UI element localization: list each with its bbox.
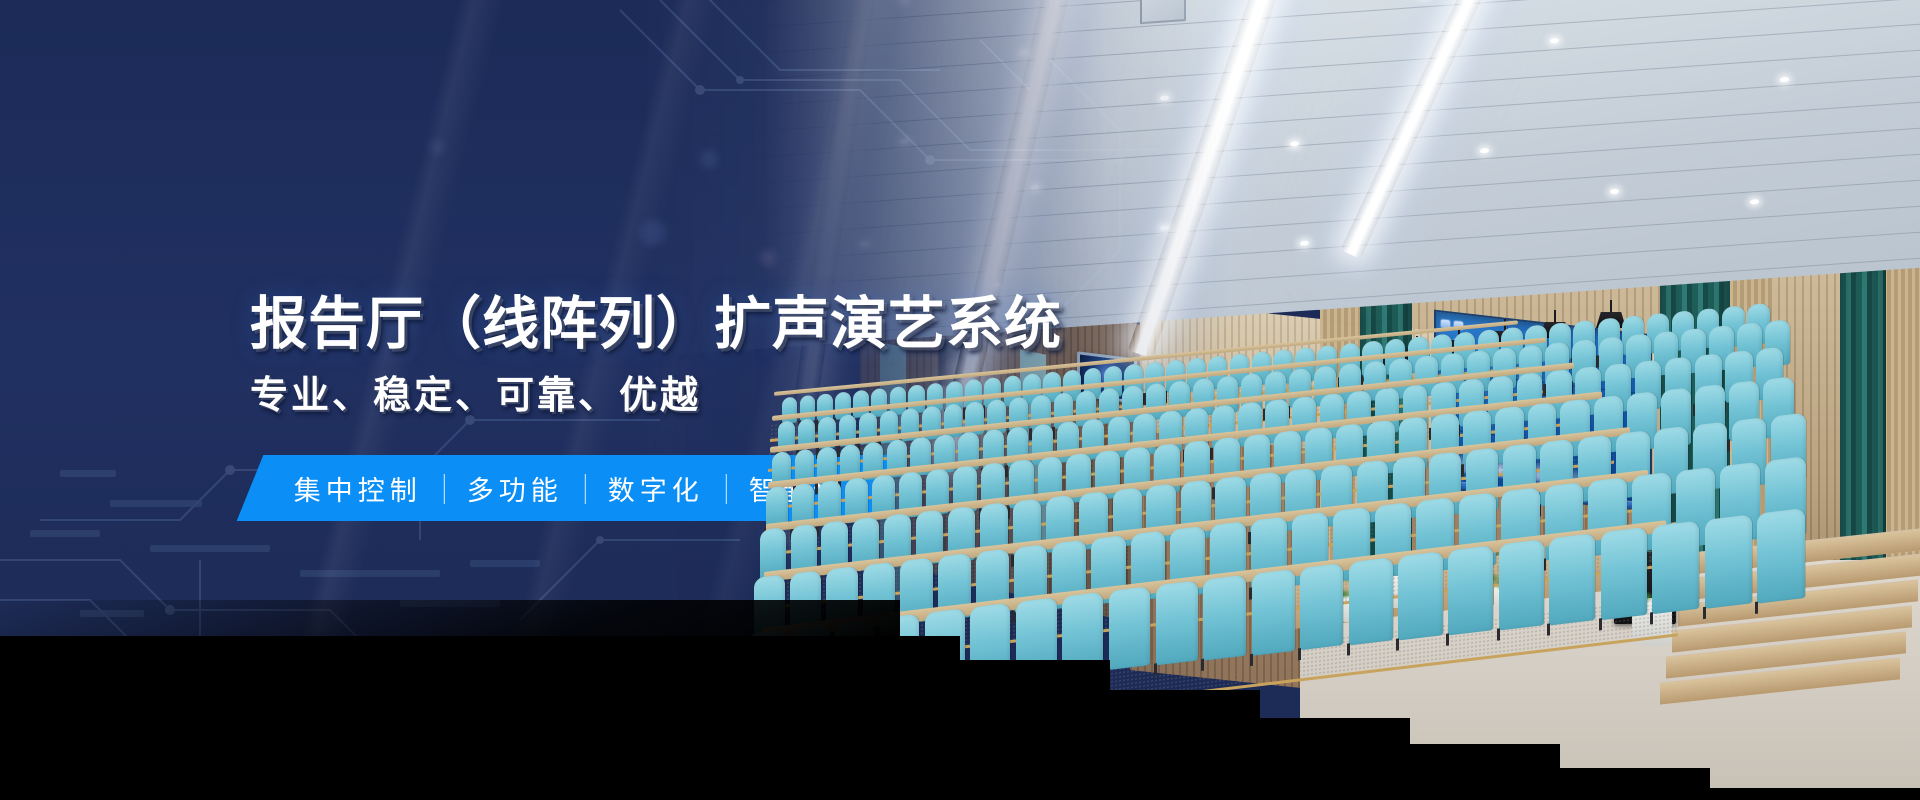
auditorium-seat: [1156, 580, 1198, 665]
auditorium-seat: [1757, 508, 1805, 604]
auditorium-seat: [1499, 539, 1544, 630]
auditorium-seat: [1252, 569, 1295, 656]
image-crop-mask: [1110, 690, 1260, 800]
image-crop-mask: [1410, 744, 1560, 800]
tag-separator: [585, 473, 586, 503]
banner-subtitle: 专业、稳定、可靠、优越: [250, 364, 701, 419]
auditorium-seat: [1601, 527, 1647, 620]
feature-tag: 集中控制: [294, 469, 422, 508]
image-crop-mask: [960, 660, 1110, 800]
image-crop-mask: [1260, 718, 1410, 800]
tag-separator: [444, 473, 445, 503]
auditorium-seat: [1448, 545, 1493, 635]
image-crop-mask: [1560, 768, 1710, 800]
auditorium-seat: [1705, 514, 1752, 609]
image-crop-mask: [1710, 788, 1920, 800]
tag-separator: [726, 473, 727, 503]
auditorium-seat: [1398, 551, 1442, 640]
feature-tag: 数字化: [608, 469, 704, 508]
banner-title: 报告厅（线阵列）扩声演艺系统: [250, 278, 1062, 360]
image-crop-mask: [0, 636, 960, 800]
auditorium-seat: [1549, 533, 1595, 625]
feature-tag: 多功能: [467, 469, 563, 508]
auditorium-seat: [1349, 557, 1393, 645]
auditorium-seat: [1300, 563, 1343, 651]
auditorium-seat: [1109, 586, 1151, 670]
feature-tag-list: 集中控制多功能数字化智能化: [294, 469, 845, 508]
hero-banner: KTV: [0, 0, 1920, 800]
auditorium-seat: [1203, 575, 1246, 661]
auditorium-seat: [1652, 521, 1699, 615]
